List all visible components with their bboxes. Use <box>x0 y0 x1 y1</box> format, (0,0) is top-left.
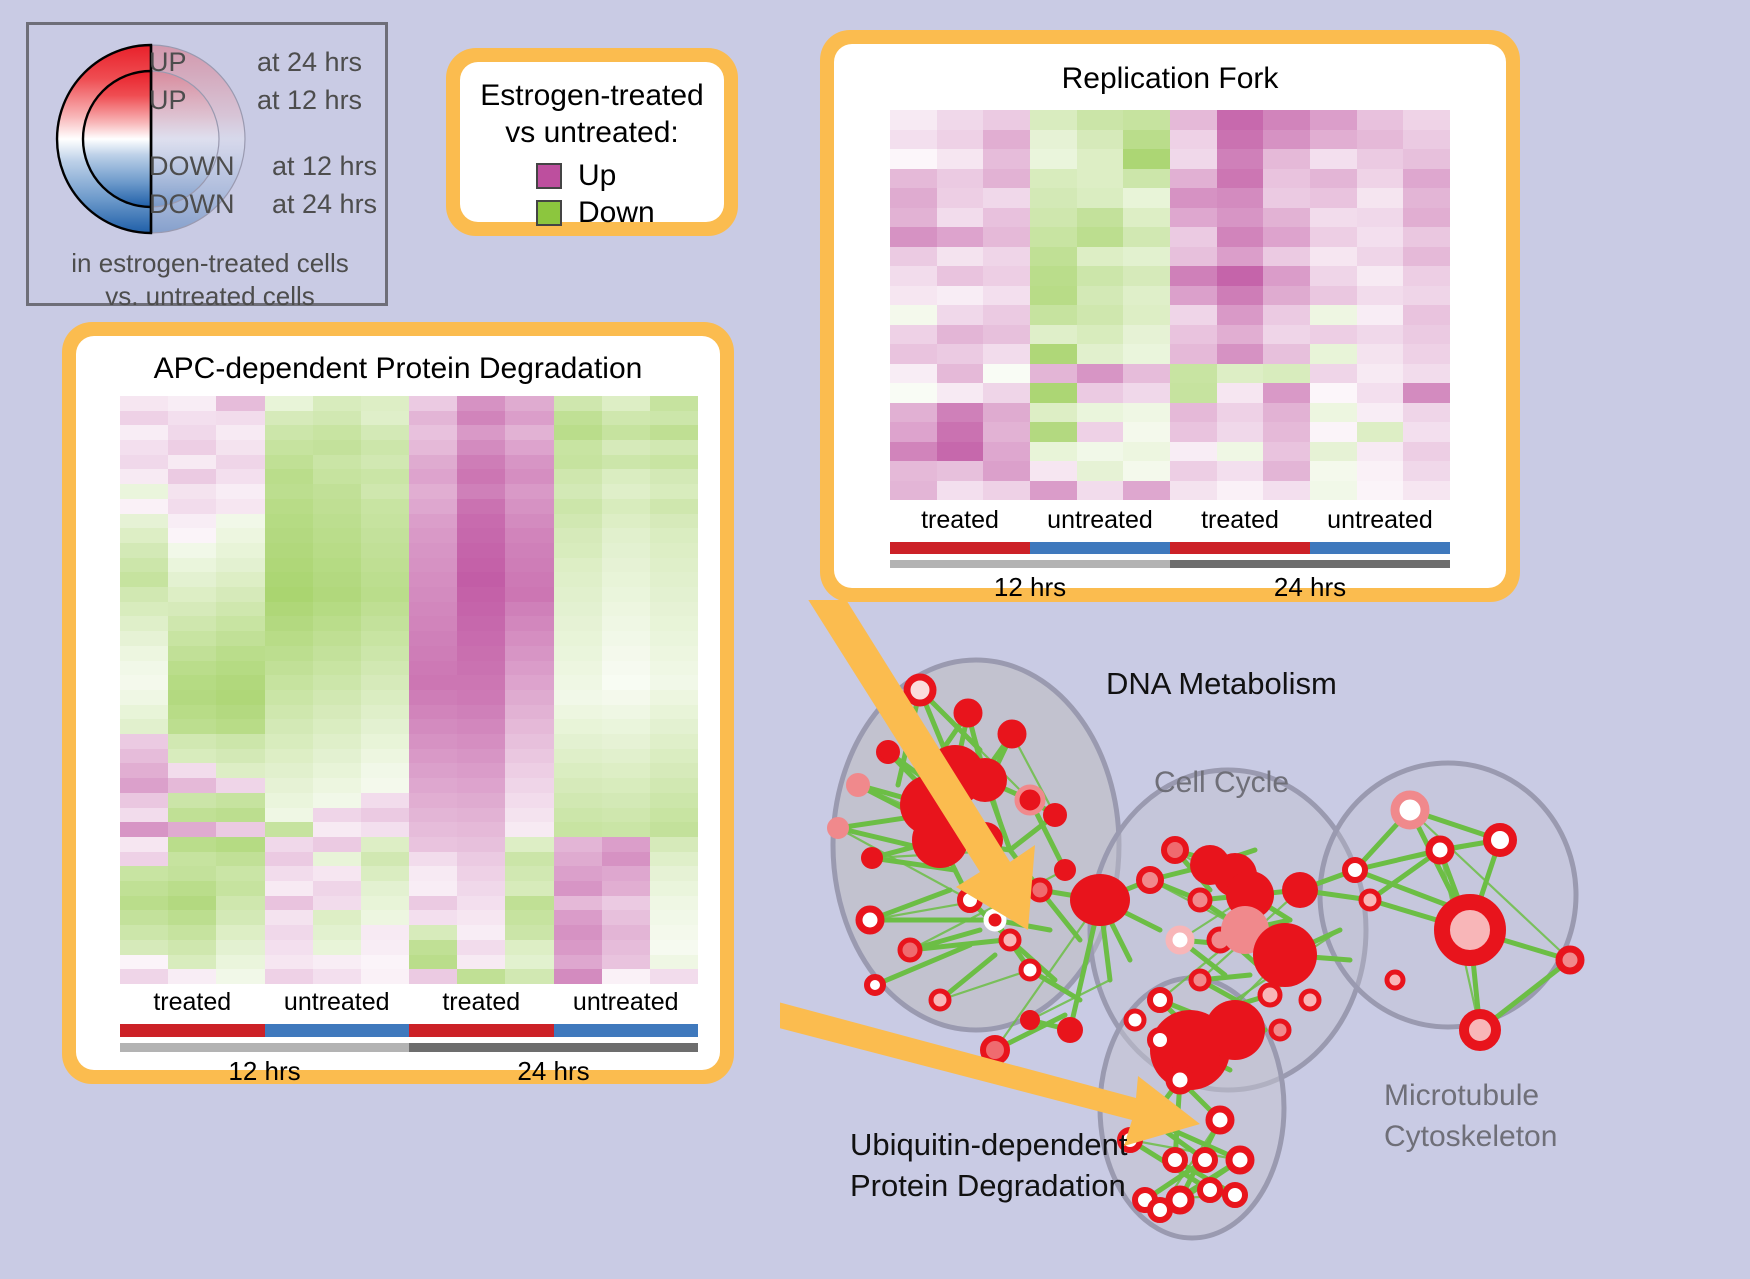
heatmap-cell <box>361 514 409 529</box>
heatmap-cell <box>168 602 216 617</box>
heatmap-cell <box>1217 344 1264 364</box>
heatmap-cell <box>1263 383 1310 403</box>
heatmap-cell <box>216 969 264 984</box>
legend-item-up-label: Up <box>578 159 616 193</box>
heatmap-cell <box>216 631 264 646</box>
heatmap-cell <box>120 587 168 602</box>
heatmap-cell <box>313 808 361 823</box>
heatmap-cell <box>983 383 1030 403</box>
heatmap-cell <box>361 955 409 970</box>
heatmap-cell <box>1170 110 1217 130</box>
heatmap-cell <box>120 925 168 940</box>
heatmap-cell <box>216 572 264 587</box>
heatmap-cell <box>168 910 216 925</box>
heatmap-cell <box>1123 305 1170 325</box>
heatmap-cell <box>409 631 457 646</box>
heatmap-cell <box>554 690 602 705</box>
heatmap-cell <box>409 763 457 778</box>
heatmap-cell <box>505 543 553 558</box>
heatmap-cell <box>554 705 602 720</box>
heatmap-cell <box>1123 130 1170 150</box>
heatmap-cell <box>554 455 602 470</box>
heatmap-cell <box>216 940 264 955</box>
heatmap-cell <box>554 866 602 881</box>
heatmap-cell <box>120 808 168 823</box>
heatmap-cell <box>890 110 937 130</box>
heatmap-cell <box>650 587 698 602</box>
group-label-3: untreated <box>1310 506 1450 540</box>
heatmap-cell <box>361 661 409 676</box>
heatmap-cell <box>554 587 602 602</box>
heatmap-cell <box>650 425 698 440</box>
heatmap-cell <box>168 440 216 455</box>
heatmap-cell <box>361 572 409 587</box>
heatmap-cell <box>216 719 264 734</box>
heatmap-cell <box>313 396 361 411</box>
heatmap-cell <box>602 602 650 617</box>
heatmap-cell <box>168 587 216 602</box>
heatmap-cell <box>890 247 937 267</box>
cluster-label-microtubule-line2: Cytoskeleton <box>1384 1120 1557 1153</box>
heatmap-cell <box>1310 325 1357 345</box>
heatmap-cell <box>505 631 553 646</box>
heatmap-cell <box>937 403 984 423</box>
heatmap-cell <box>457 837 505 852</box>
heatmap-cell <box>457 675 505 690</box>
heatmap-cell <box>650 675 698 690</box>
heatmap-cell <box>313 793 361 808</box>
heatmap-cell <box>1310 442 1357 462</box>
heatmap-cell <box>361 763 409 778</box>
heatmap-cell <box>937 130 984 150</box>
heatmap-cell <box>313 440 361 455</box>
heatmap-cell <box>650 763 698 778</box>
key-row-1-time: at 12 hrs <box>257 85 362 116</box>
heatmap-cell <box>1217 286 1264 306</box>
heatmap-cell <box>602 778 650 793</box>
heatmap-cell <box>313 837 361 852</box>
heatmap-cell <box>602 646 650 661</box>
heatmap-cell <box>265 469 313 484</box>
heatmap-cell <box>361 587 409 602</box>
heatmap-cell <box>1403 364 1450 384</box>
heatmap-cell <box>265 734 313 749</box>
heatmap-cell <box>265 411 313 426</box>
heatmap-cell <box>1170 481 1217 501</box>
heatmap-cell <box>457 793 505 808</box>
heatmap-cell <box>937 364 984 384</box>
heatmap-cell <box>457 734 505 749</box>
heatmap-cell <box>168 969 216 984</box>
heatmap-cell <box>1030 305 1077 325</box>
heatmap-cell <box>409 822 457 837</box>
heatmap-cell <box>216 910 264 925</box>
heatmap-cell <box>168 896 216 911</box>
heatmap-cell <box>602 749 650 764</box>
heatmap-cell <box>313 925 361 940</box>
heatmap-cell <box>650 793 698 808</box>
heatmap-cell <box>1310 208 1357 228</box>
heatmap-cell <box>120 661 168 676</box>
legend-items: Up Down <box>460 159 724 230</box>
heatmap-cell <box>313 646 361 661</box>
heatmap-cell <box>265 528 313 543</box>
heatmap-cell <box>120 646 168 661</box>
heatmap-cell <box>409 940 457 955</box>
heatmap-cell <box>1123 110 1170 130</box>
heatmap-cell <box>265 763 313 778</box>
treatment-bar-segment <box>409 1024 554 1037</box>
down-color-swatch <box>536 200 562 226</box>
heatmap-cell <box>554 558 602 573</box>
heatmap-cell <box>216 411 264 426</box>
heatmap-cell <box>554 469 602 484</box>
heatmap-cell <box>120 514 168 529</box>
timepoint-bar-segment <box>120 1043 409 1052</box>
heatmap-cell <box>1077 305 1124 325</box>
heatmap-cell <box>554 955 602 970</box>
heatmap-cell <box>505 572 553 587</box>
heatmap-cell <box>602 558 650 573</box>
heatmap-cell <box>602 690 650 705</box>
heatmap-cell <box>1030 442 1077 462</box>
heatmap-cell <box>1030 169 1077 189</box>
heatmap-cell <box>265 969 313 984</box>
heatmap-cell <box>457 969 505 984</box>
heatmap-cell <box>983 442 1030 462</box>
heatmap-cell <box>602 734 650 749</box>
heatmap-cell <box>602 528 650 543</box>
heatmap-cell <box>168 852 216 867</box>
heatmap-cell <box>168 866 216 881</box>
heatmap-cell <box>1403 227 1450 247</box>
heatmap-cell <box>457 572 505 587</box>
heatmap-cell <box>650 940 698 955</box>
heatmap-cell <box>602 631 650 646</box>
heatmap-cell <box>554 675 602 690</box>
heatmap-cell <box>168 837 216 852</box>
heatmap-cell <box>361 631 409 646</box>
heatmap-cell <box>1170 169 1217 189</box>
heatmap-cell <box>890 227 937 247</box>
heatmap-cell <box>409 675 457 690</box>
heatmap-cell <box>1077 227 1124 247</box>
heatmap-cell <box>983 481 1030 501</box>
heatmap-cell <box>1077 325 1124 345</box>
heatmap-cell <box>650 396 698 411</box>
heatmap-cell <box>216 484 264 499</box>
heatmap-cell <box>265 455 313 470</box>
heatmap-cell <box>1217 266 1264 286</box>
heatmap-cell <box>1030 364 1077 384</box>
heatmap-cell <box>602 793 650 808</box>
heatmap-cell <box>1403 266 1450 286</box>
heatmap-cell <box>937 110 984 130</box>
heatmap-cell <box>602 616 650 631</box>
heatmap-cell <box>1310 247 1357 267</box>
heatmap-cell <box>457 763 505 778</box>
heatmap-cell <box>983 110 1030 130</box>
heatmap-cell <box>650 631 698 646</box>
heatmap-cell <box>602 587 650 602</box>
heatmap-cell <box>409 925 457 940</box>
heatmap-cell <box>1123 344 1170 364</box>
heatmap-cell <box>1170 227 1217 247</box>
heatmap-cell <box>361 925 409 940</box>
heatmap-cell <box>937 266 984 286</box>
heatmap-cell <box>602 514 650 529</box>
heatmap-cell <box>1310 169 1357 189</box>
heatmap-cell <box>1403 383 1450 403</box>
heatmap-cell <box>890 481 937 501</box>
legend-item-up: Up <box>536 159 724 193</box>
heatmap-cell <box>313 955 361 970</box>
treatment-bar-segment <box>1030 542 1170 554</box>
heatmap-cell <box>650 925 698 940</box>
heatmap-cell <box>505 881 553 896</box>
heatmap-cell <box>313 587 361 602</box>
heatmap-cell <box>1403 208 1450 228</box>
heatmap-cell <box>457 881 505 896</box>
heatmap-cell <box>1030 208 1077 228</box>
heatmap-cell <box>1263 130 1310 150</box>
heatmap-cell <box>168 484 216 499</box>
heatmap-cell <box>602 969 650 984</box>
heatmap-cell <box>457 440 505 455</box>
heatmap-cell <box>120 411 168 426</box>
heatmap-cell <box>937 383 984 403</box>
heatmap-cell <box>983 169 1030 189</box>
heatmap-cell <box>1170 364 1217 384</box>
heatmap-cell <box>313 425 361 440</box>
heatmap-cell <box>265 940 313 955</box>
heatmap-cell <box>890 461 937 481</box>
legend-item-down: Down <box>536 196 724 230</box>
heatmap-cell <box>457 925 505 940</box>
heatmap-cell <box>1357 305 1404 325</box>
heatmap-cell <box>457 484 505 499</box>
key-row-2-label: DOWN <box>149 151 234 182</box>
heatmap-cell <box>216 749 264 764</box>
heatmap-cell <box>983 266 1030 286</box>
heatmap-cell <box>168 881 216 896</box>
heatmap-cell <box>265 837 313 852</box>
heatmap-cell <box>554 778 602 793</box>
heatmap-cell <box>168 396 216 411</box>
heatmap-cell <box>1217 481 1264 501</box>
heatmap-cell <box>937 481 984 501</box>
heatmap-color-legend-panel: Estrogen-treated vs untreated: Up Down <box>446 48 738 236</box>
heatmap-cell <box>650 749 698 764</box>
heatmap-cell <box>1357 169 1404 189</box>
heatmap-cell <box>554 940 602 955</box>
heatmap-cell <box>409 558 457 573</box>
heatmap-cell <box>120 940 168 955</box>
heatmap-cell <box>361 528 409 543</box>
heatmap-cell <box>505 396 553 411</box>
heatmap-cell <box>1170 305 1217 325</box>
heatmap-cell <box>457 587 505 602</box>
heatmap-cell <box>216 955 264 970</box>
heatmap-cell <box>265 543 313 558</box>
heatmap-cell <box>505 499 553 514</box>
heatmap-cell <box>313 969 361 984</box>
heatmap-cell <box>505 719 553 734</box>
heatmap-cell <box>361 455 409 470</box>
heatmap-cell <box>216 602 264 617</box>
apc-degradation-timepoint-bar <box>120 1043 698 1052</box>
heatmap-cell <box>937 422 984 442</box>
heatmap-cell <box>313 763 361 778</box>
heatmap-cell <box>1310 344 1357 364</box>
heatmap-cell <box>554 484 602 499</box>
color-key-footnote-line1: in estrogen-treated cells <box>29 247 391 280</box>
heatmap-cell <box>602 543 650 558</box>
heatmap-cell <box>313 455 361 470</box>
heatmap-cell <box>602 881 650 896</box>
heatmap-cell <box>983 305 1030 325</box>
heatmap-cell <box>216 440 264 455</box>
heatmap-cell <box>457 558 505 573</box>
heatmap-cell <box>554 837 602 852</box>
legend-item-down-label: Down <box>578 196 655 230</box>
heatmap-cell <box>505 896 553 911</box>
heatmap-cell <box>457 778 505 793</box>
heatmap-cell <box>168 749 216 764</box>
heatmap-cell <box>1357 286 1404 306</box>
heatmap-cell <box>1310 110 1357 130</box>
replication-fork-title: Replication Fork <box>834 44 1506 96</box>
heatmap-cell <box>1357 208 1404 228</box>
heatmap-cell <box>505 455 553 470</box>
heatmap-cell <box>602 822 650 837</box>
heatmap-cell <box>505 675 553 690</box>
heatmap-cell <box>168 425 216 440</box>
heatmap-cell <box>313 778 361 793</box>
heatmap-cell <box>265 852 313 867</box>
heatmap-cell <box>505 852 553 867</box>
heatmap-cell <box>265 822 313 837</box>
heatmap-cell <box>409 396 457 411</box>
replication-fork-heatmap <box>890 110 1450 500</box>
heatmap-cell <box>1357 461 1404 481</box>
heatmap-cell <box>983 286 1030 306</box>
heatmap-cell <box>457 940 505 955</box>
heatmap-cell <box>457 690 505 705</box>
heatmap-cell <box>409 484 457 499</box>
heatmap-cell <box>554 925 602 940</box>
heatmap-cell <box>361 866 409 881</box>
heatmap-cell <box>409 881 457 896</box>
heatmap-cell <box>1170 188 1217 208</box>
heatmap-cell <box>361 822 409 837</box>
heatmap-cell <box>554 499 602 514</box>
cluster-label-ubiquitin-line2: Protein Degradation <box>850 1168 1126 1203</box>
heatmap-cell <box>120 793 168 808</box>
heatmap-cell <box>313 881 361 896</box>
heatmap-cell <box>1403 422 1450 442</box>
heatmap-cell <box>409 896 457 911</box>
heatmap-cell <box>602 763 650 778</box>
heatmap-cell <box>120 499 168 514</box>
heatmap-cell <box>120 763 168 778</box>
heatmap-cell <box>1077 188 1124 208</box>
heatmap-cell <box>168 705 216 720</box>
heatmap-cell <box>313 675 361 690</box>
heatmap-cell <box>650 528 698 543</box>
heatmap-cell <box>890 188 937 208</box>
group-label-1: untreated <box>265 988 410 1022</box>
heatmap-cell <box>505 793 553 808</box>
heatmap-cell <box>168 719 216 734</box>
heatmap-cell <box>1077 266 1124 286</box>
heatmap-cell <box>554 793 602 808</box>
heatmap-cell <box>265 675 313 690</box>
pathway-network-diagram: DNA Metabolism Cell Cycle Microtubule Cy… <box>780 600 1750 1279</box>
heatmap-cell <box>1357 110 1404 130</box>
heatmap-cell <box>313 528 361 543</box>
heatmap-cell <box>1263 286 1310 306</box>
heatmap-cell <box>554 896 602 911</box>
heatmap-cell <box>554 822 602 837</box>
heatmap-cell <box>505 425 553 440</box>
heatmap-cell <box>1030 266 1077 286</box>
heatmap-cell <box>313 822 361 837</box>
heatmap-cell <box>265 425 313 440</box>
heatmap-cell <box>1357 149 1404 169</box>
heatmap-cell <box>120 896 168 911</box>
heatmap-cell <box>1217 247 1264 267</box>
heatmap-cell <box>265 587 313 602</box>
heatmap-cell <box>602 705 650 720</box>
heatmap-cell <box>554 631 602 646</box>
heatmap-cell <box>1357 481 1404 501</box>
heatmap-cell <box>409 969 457 984</box>
heatmap-cell <box>1217 227 1264 247</box>
heatmap-cell <box>1123 169 1170 189</box>
heatmap-cell <box>650 602 698 617</box>
heatmap-cell <box>505 910 553 925</box>
heatmap-cell <box>120 837 168 852</box>
heatmap-cell <box>1123 247 1170 267</box>
heatmap-cell <box>1030 286 1077 306</box>
heatmap-cell <box>505 602 553 617</box>
heatmap-cell <box>265 396 313 411</box>
heatmap-cell <box>1263 403 1310 423</box>
heatmap-cell <box>457 955 505 970</box>
heatmap-cell <box>602 396 650 411</box>
key-row-3-label: DOWN <box>149 189 234 220</box>
heatmap-cell <box>1170 403 1217 423</box>
key-row-3-time: at 24 hrs <box>272 189 377 220</box>
heatmap-cell <box>120 822 168 837</box>
heatmap-cell <box>457 411 505 426</box>
heatmap-cell <box>409 955 457 970</box>
heatmap-cell <box>554 602 602 617</box>
heatmap-cell <box>1123 422 1170 442</box>
group-label-0: treated <box>120 988 265 1022</box>
heatmap-cell <box>409 646 457 661</box>
heatmap-cell <box>1310 461 1357 481</box>
heatmap-cell <box>265 602 313 617</box>
heatmap-cell <box>216 396 264 411</box>
heatmap-cell <box>890 442 937 462</box>
heatmap-cell <box>1403 344 1450 364</box>
heatmap-cell <box>120 969 168 984</box>
heatmap-cell <box>361 852 409 867</box>
heatmap-cell <box>409 528 457 543</box>
heatmap-cell <box>890 266 937 286</box>
